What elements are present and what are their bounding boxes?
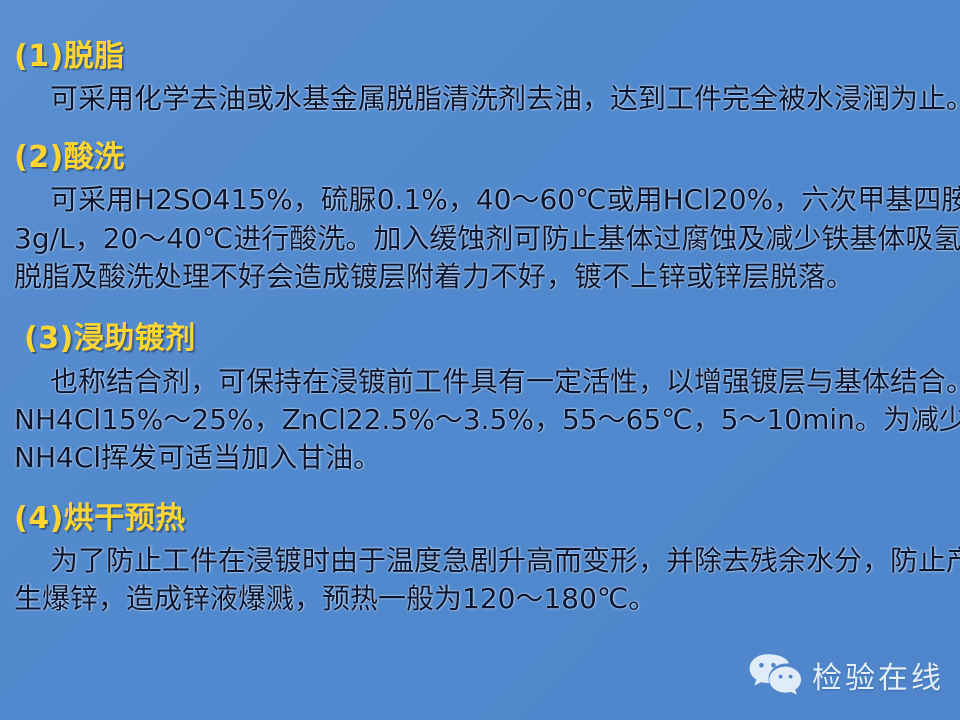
spacer-1 (14, 121, 946, 139)
section-4-heading: (4)烘干预热 (14, 500, 946, 538)
section-3-line-1: 也称结合剂，可保持在浸镀前工件具有一定活性，以增强镀层与基体结合。 (14, 363, 946, 401)
section-3: (3)浸助镀剂 也称结合剂，可保持在浸镀前工件具有一定活性，以增强镀层与基体结合… (14, 320, 946, 477)
section-4-line-1: 为了防止工件在浸镀时由于温度急剧升高而变形，并除去残余水分，防止产 (14, 542, 946, 580)
section-2-line-3: 脱脂及酸洗处理不好会造成镀层附着力不好，镀不上锌或锌层脱落。 (14, 258, 946, 296)
section-1-body: 可采用化学去油或水基金属脱脂清洗剂去油，达到工件完全被水浸润为止。 (14, 80, 946, 118)
section-4: (4)烘干预热 为了防止工件在浸镀时由于温度急剧升高而变形，并除去残余水分，防止… (14, 500, 946, 619)
section-4-body: 为了防止工件在浸镀时由于温度急剧升高而变形，并除去残余水分，防止产 生爆锌，造成… (14, 542, 946, 619)
section-1-line-1: 可采用化学去油或水基金属脱脂清洗剂去油，达到工件完全被水浸润为止。 (14, 80, 946, 118)
section-1: (1)脱脂 可采用化学去油或水基金属脱脂清洗剂去油，达到工件完全被水浸润为止。 (14, 38, 946, 119)
section-1-heading: (1)脱脂 (14, 38, 946, 76)
wechat-icon (748, 652, 802, 698)
section-3-heading: (3)浸助镀剂 (14, 320, 946, 358)
section-4-line-2: 生爆锌，造成锌液爆溅，预热一般为120～180℃。 (14, 580, 946, 618)
section-3-line-3: NH4Cl挥发可适当加入甘油。 (14, 439, 946, 477)
section-2-line-1: 可采用H2SO415%，硫脲0.1%，40～60℃或用HCl20%，六次甲基四胺… (14, 181, 946, 219)
section-2-line-2: 3g/L，20～40℃进行酸洗。加入缓蚀剂可防止基体过腐蚀及减少铁基体吸氢量。 (14, 220, 946, 258)
section-2-body: 可采用H2SO415%，硫脲0.1%，40～60℃或用HCl20%，六次甲基四胺… (14, 181, 946, 296)
section-3-line-2: NH4Cl15%～25%，ZnCl22.5%～3.5%，55～65℃，5～10m… (14, 401, 946, 439)
section-2: (2)酸洗 可采用H2SO415%，硫脲0.1%，40～60℃或用HCl20%，… (14, 139, 946, 296)
watermark-label: 检验在线 (812, 653, 944, 697)
section-3-body: 也称结合剂，可保持在浸镀前工件具有一定活性，以增强镀层与基体结合。 NH4Cl1… (14, 363, 946, 478)
slide-canvas: (1)脱脂 可采用化学去油或水基金属脱脂清洗剂去油，达到工件完全被水浸润为止。 … (0, 0, 960, 720)
watermark: 检验在线 (748, 652, 944, 698)
slide-content: (1)脱脂 可采用化学去油或水基金属脱脂清洗剂去油，达到工件完全被水浸润为止。 … (0, 0, 960, 621)
section-2-heading: (2)酸洗 (14, 139, 946, 177)
spacer-3 (14, 480, 946, 500)
spacer-2 (14, 298, 946, 320)
